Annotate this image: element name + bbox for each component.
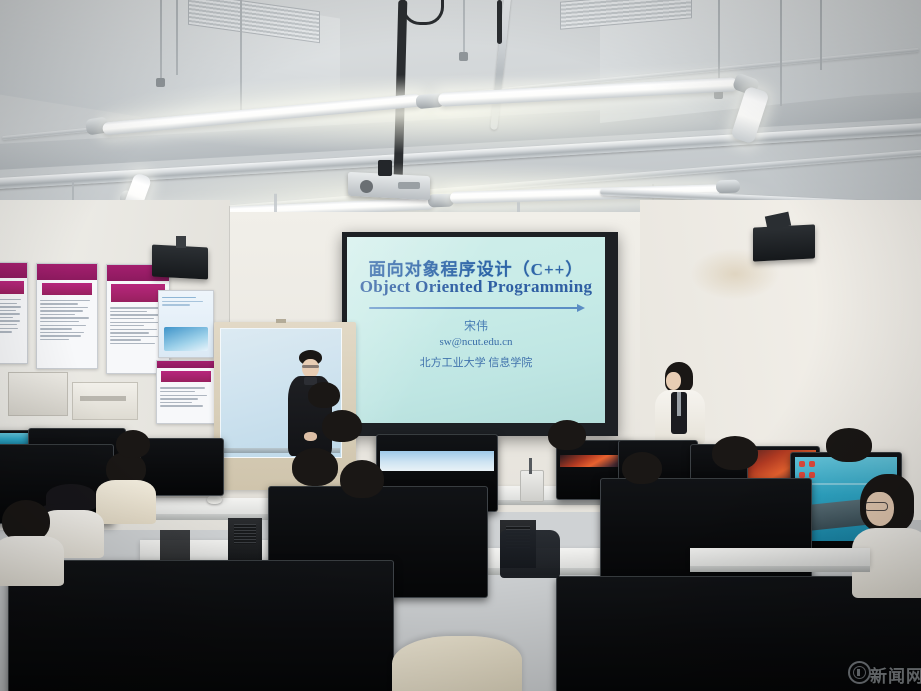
watermark: 新闻网 bbox=[848, 658, 921, 684]
poster-1 bbox=[36, 263, 98, 369]
desk-right-far-edge bbox=[690, 566, 870, 572]
light-fixture-upper bbox=[86, 82, 790, 148]
poster-0 bbox=[0, 262, 28, 364]
pc-tower-1-vents bbox=[234, 524, 256, 544]
poster-title-bar bbox=[0, 281, 24, 294]
student-6-hair bbox=[116, 430, 150, 458]
poster-blue-info bbox=[158, 290, 214, 358]
jacket-on-chair bbox=[500, 530, 560, 578]
desktop-icon-1 bbox=[799, 461, 805, 467]
podium-mic-stand bbox=[529, 458, 532, 474]
desktop-icon-5 bbox=[809, 472, 815, 478]
student-9 bbox=[546, 420, 594, 464]
wall-speaker-right bbox=[753, 224, 815, 261]
poster-header bbox=[157, 361, 215, 368]
ceiling-cable-side bbox=[497, 0, 502, 44]
poster-title-bar bbox=[111, 284, 165, 302]
lecturer-hands bbox=[304, 432, 317, 441]
panel-slot bbox=[80, 396, 126, 401]
poster-body bbox=[157, 385, 215, 410]
mouse-2 bbox=[207, 495, 222, 504]
student-5 bbox=[336, 460, 394, 512]
hanger-rod-2 bbox=[176, 0, 178, 75]
wall-equipment-box bbox=[72, 382, 138, 420]
hanger-rod-7 bbox=[820, 0, 822, 70]
poster-header bbox=[0, 263, 27, 278]
assistant-person bbox=[655, 362, 705, 444]
ceiling-projector bbox=[348, 166, 430, 200]
hanger-cap-4 bbox=[459, 52, 468, 61]
student-1-body bbox=[96, 480, 156, 524]
student-12-glasses bbox=[864, 502, 888, 511]
poster-body bbox=[37, 298, 97, 345]
student-10 bbox=[620, 452, 668, 498]
student-3-body bbox=[0, 536, 64, 586]
whiteboard-mount bbox=[276, 319, 286, 323]
poster-title-bar bbox=[161, 371, 211, 382]
hanger-rod-4 bbox=[463, 0, 465, 58]
student-8-hair bbox=[322, 410, 362, 442]
projection-screen: 面向对象程序设计（C++） Object Oriented Programmin… bbox=[347, 237, 605, 423]
watermark-logo-icon bbox=[848, 661, 871, 684]
desk-right-far bbox=[690, 548, 870, 566]
student-13 bbox=[824, 428, 878, 472]
assistant-lanyard bbox=[677, 392, 681, 416]
hanger-rod-1 bbox=[160, 0, 162, 84]
monitor-sky-screen bbox=[380, 451, 494, 471]
student-3 bbox=[0, 500, 64, 580]
poster-title-bar bbox=[42, 283, 92, 295]
assistant-face bbox=[666, 372, 681, 390]
poster-3 bbox=[156, 360, 216, 424]
wall-control-panel bbox=[8, 372, 68, 416]
poster-image bbox=[164, 327, 208, 351]
watermark-text: 新闻网 bbox=[870, 662, 921, 687]
foreground-student-sweater bbox=[392, 636, 522, 691]
student-5-hair bbox=[340, 460, 384, 498]
student-8 bbox=[320, 410, 368, 454]
poster-body bbox=[0, 297, 27, 337]
student-12 bbox=[860, 474, 921, 594]
student-13-hair bbox=[826, 428, 872, 462]
student-9-hair bbox=[548, 420, 586, 450]
lecturer-glasses bbox=[302, 365, 319, 368]
poster-header bbox=[37, 264, 97, 280]
podium-equipment bbox=[520, 470, 544, 502]
student-6 bbox=[112, 430, 156, 470]
speaker-left-bracket bbox=[176, 236, 186, 248]
student-7-hair bbox=[308, 382, 340, 408]
projection-screen-frame: 面向对象程序设计（C++） Object Oriented Programmin… bbox=[342, 232, 618, 436]
student-10-hair bbox=[622, 452, 662, 484]
screen-glare bbox=[347, 237, 605, 423]
student-11 bbox=[708, 436, 766, 490]
projector-lens bbox=[360, 180, 373, 193]
desktop-icon-4 bbox=[809, 461, 815, 467]
monitor-back-r3-a bbox=[8, 560, 394, 691]
student-11-hair bbox=[712, 436, 758, 470]
classroom-photo: 面向对象程序设计（C++） Object Oriented Programmin… bbox=[0, 0, 921, 691]
wall-speaker-left bbox=[152, 245, 208, 280]
